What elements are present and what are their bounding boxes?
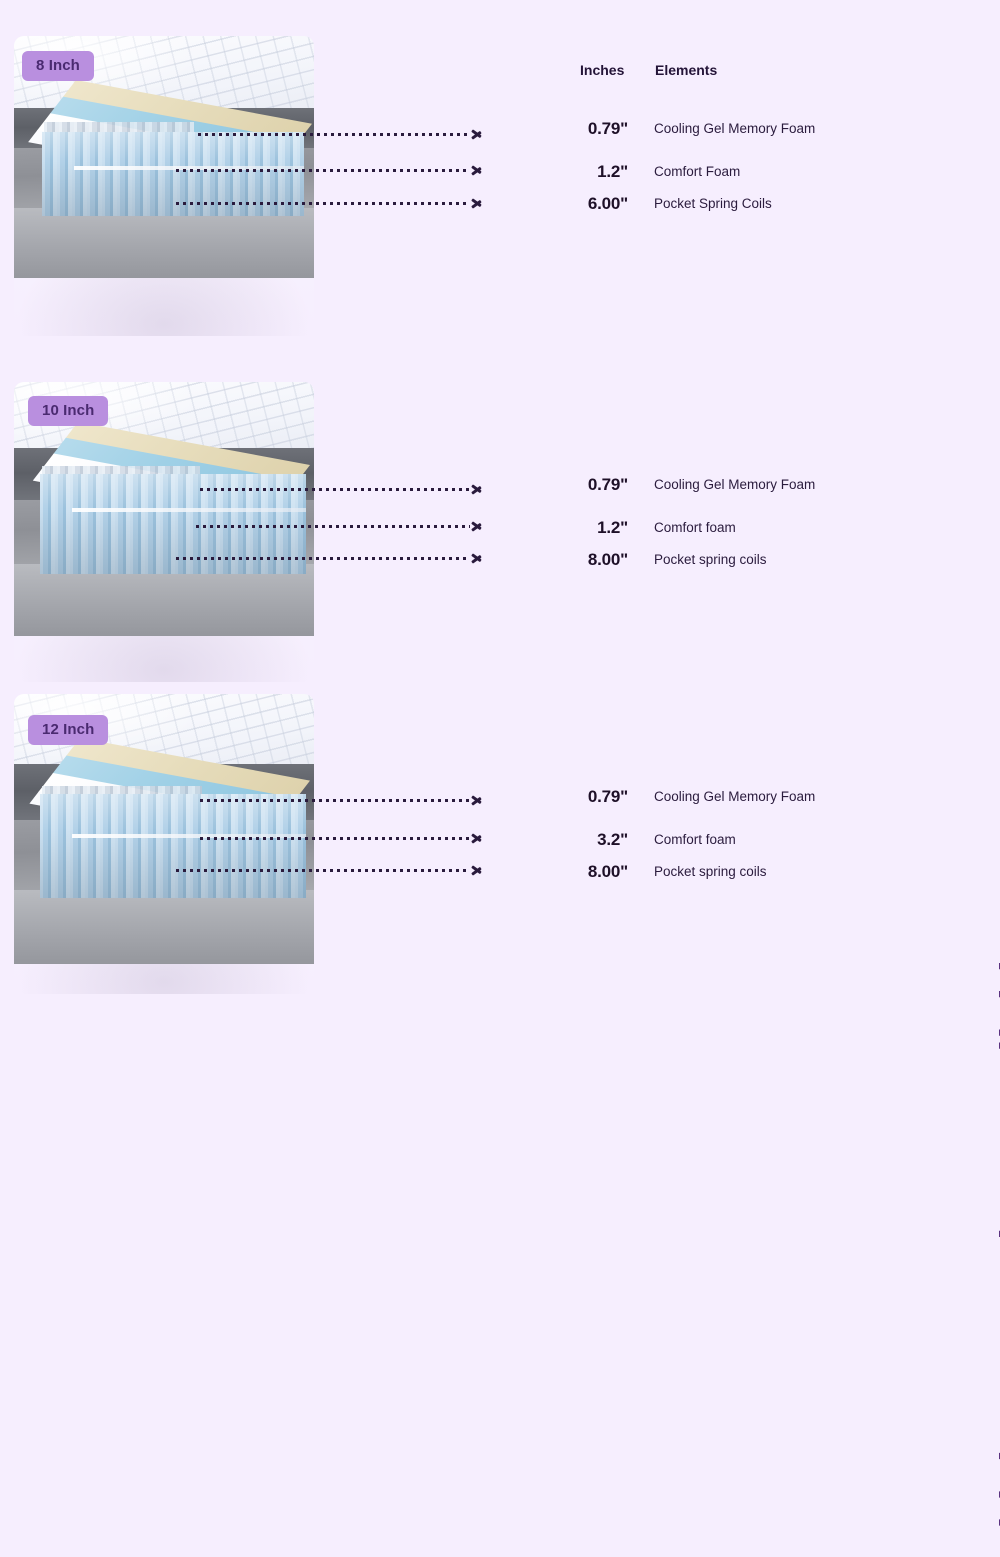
leader-line-3 <box>176 202 470 205</box>
foam-edge-highlight <box>72 508 306 512</box>
leader-arrow-3 <box>472 197 484 209</box>
spec-row: 0.79" Cooling Gel Memory Foam <box>520 475 860 495</box>
leader-line-3 <box>176 557 470 560</box>
spec-element: Cooling Gel Memory Foam <box>654 787 815 807</box>
leader-arrow-3 <box>472 552 484 564</box>
leader-line-2 <box>196 525 470 528</box>
spec-value: 8.00" <box>520 550 628 570</box>
leader-arrow-2 <box>472 520 484 532</box>
leader-arrow-2 <box>472 832 484 844</box>
spec-value: 8.00" <box>520 862 628 882</box>
leader-line-2 <box>200 837 470 840</box>
pocket-spring-coils <box>40 794 306 898</box>
leader-line-3 <box>176 869 470 872</box>
leader-line-2 <box>176 169 470 172</box>
mattress-base-front <box>14 564 314 636</box>
leader-line-1 <box>198 133 470 136</box>
infographic-page: 8 Inch Inches Elements 0.79" Cooling Gel… <box>0 0 1000 1000</box>
spec-element: Pocket spring coils <box>654 550 767 570</box>
spec-value: 1.2" <box>520 518 628 538</box>
mattress-illustration-10-inch <box>14 382 314 682</box>
spec-element: Pocket spring coils <box>654 862 767 882</box>
leader-line-1 <box>200 799 470 802</box>
spec-element: Comfort foam <box>654 830 736 850</box>
spec-value: 0.79" <box>520 475 628 495</box>
leader-line-1 <box>200 488 470 491</box>
spec-value: 0.79" <box>520 787 628 807</box>
leader-arrow-2 <box>472 164 484 176</box>
badge-12-inch: 12 Inch <box>28 715 108 745</box>
spec-element: Comfort foam <box>654 518 736 538</box>
spec-row: 8.00" Pocket spring coils <box>520 862 860 882</box>
spec-element: Cooling Gel Memory Foam <box>654 475 815 495</box>
spec-value: 3.2" <box>520 830 628 850</box>
leader-arrow-1 <box>472 128 484 140</box>
spec-row: 0.79" Cooling Gel Memory Foam <box>520 787 860 807</box>
spec-row: 3.2" Comfort foam <box>520 830 860 850</box>
badge-8-inch: 8 Inch <box>22 51 94 81</box>
page-headline: Thickness Options Available <box>994 934 1000 1557</box>
spec-row: 8.00" Pocket spring coils <box>520 550 860 570</box>
leader-arrow-1 <box>472 794 484 806</box>
leader-arrow-3 <box>472 864 484 876</box>
badge-10-inch: 10 Inch <box>28 396 108 426</box>
spec-row: 1.2" Comfort foam <box>520 518 860 538</box>
mattress-base-front <box>14 890 314 964</box>
leader-arrow-1 <box>472 483 484 495</box>
